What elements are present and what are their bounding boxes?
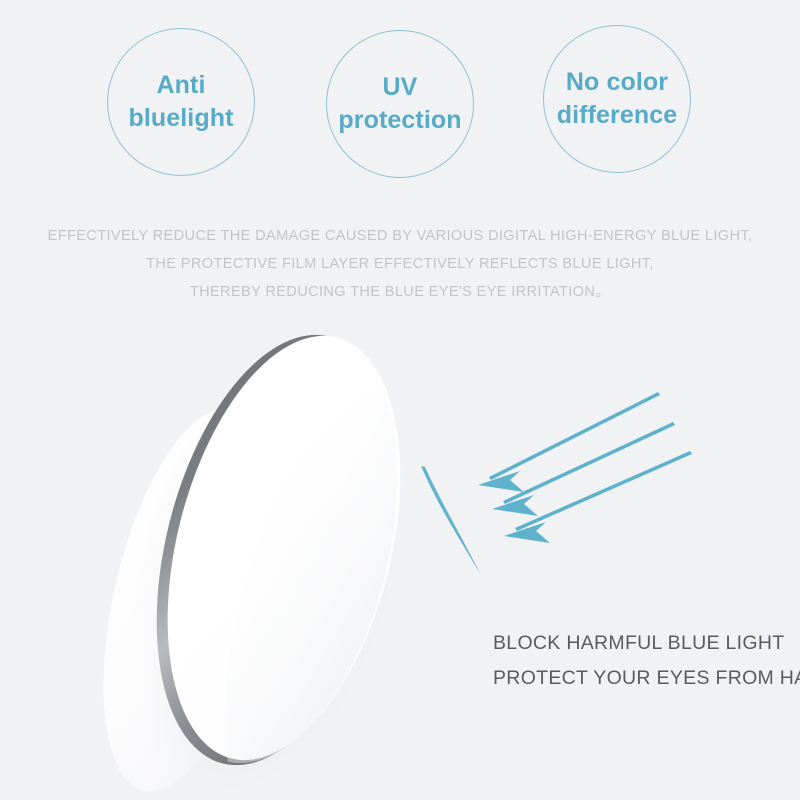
feature-badge-row: Anti bluelight UV protection No color di… — [0, 0, 800, 200]
lens-illustration — [0, 300, 800, 800]
promo-banner: Anti bluelight UV protection No color di… — [0, 0, 800, 800]
blue-light-rays — [478, 392, 692, 543]
caption-line: PROTECT YOUR EYES FROM HARM — [493, 661, 793, 696]
description-line: EFFECTIVELY REDUCE THE DAMAGE CAUSED BY … — [0, 222, 800, 250]
bottom-caption: BLOCK HARMFUL BLUE LIGHT PROTECT YOUR EY… — [493, 626, 793, 696]
badge-label: Anti bluelight — [108, 69, 254, 135]
blue-light-ray-3 — [504, 451, 692, 543]
badge-label: UV protection — [327, 71, 473, 137]
badge-uv-protection: UV protection — [326, 30, 474, 178]
description-paragraph: EFFECTIVELY REDUCE THE DAMAGE CAUSED BY … — [0, 222, 800, 306]
caption-line: BLOCK HARMFUL BLUE LIGHT — [493, 626, 793, 661]
badge-label: No color difference — [544, 66, 690, 132]
badge-no-color-difference: No color difference — [543, 25, 691, 173]
reflection-arc — [421, 466, 481, 575]
blue-light-ray-2 — [492, 422, 675, 516]
badge-anti-bluelight: Anti bluelight — [107, 28, 255, 176]
description-line: THE PROTECTIVE FILM LAYER EFFECTIVELY RE… — [0, 250, 800, 278]
